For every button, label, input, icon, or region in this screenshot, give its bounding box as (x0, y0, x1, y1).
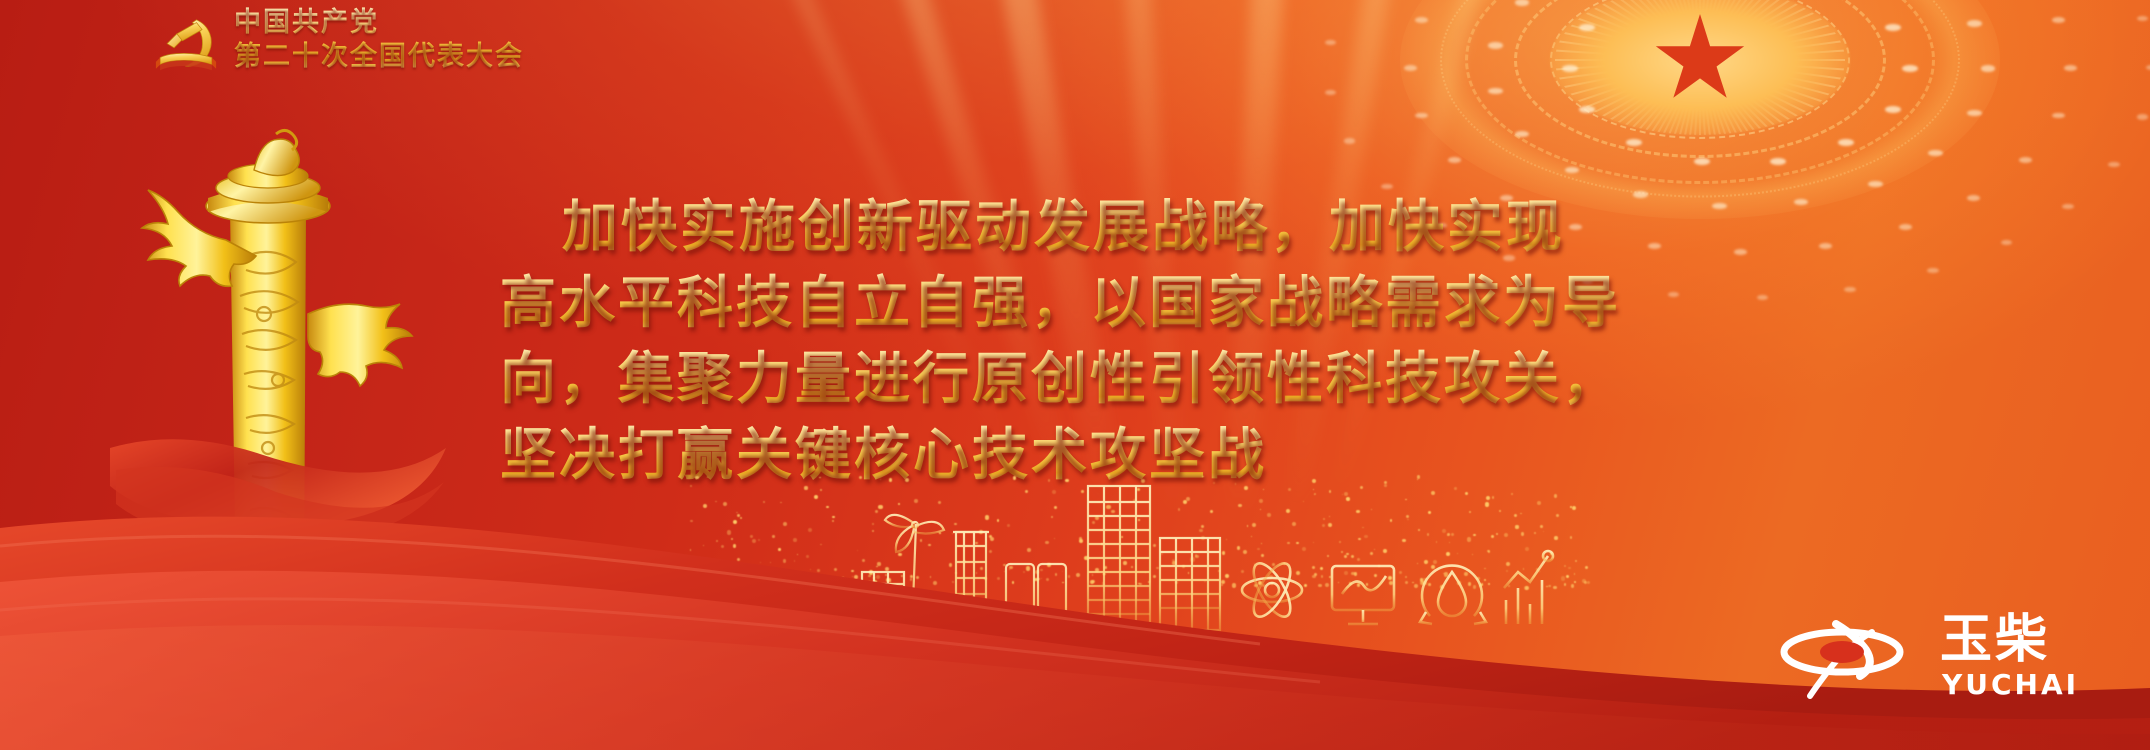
congress-mark: 中国共产党 第二十次全国代表大会 (148, 8, 608, 84)
yuchai-swoosh-icon (1780, 618, 1930, 700)
yuchai-logo: 玉柴 YUCHAI (1780, 614, 2110, 710)
skyline-group (860, 472, 1560, 632)
slogan-line-2: 高水平科技自立自强，以国家战略需求为导 (500, 266, 1730, 342)
hammer-and-sickle-icon (148, 10, 224, 80)
slogan-line-1: 加快实施创新驱动发展战略，加快实现 (500, 190, 1730, 266)
slogan-block: 加快实施创新驱动发展战略，加快实现 高水平科技自立自强，以国家战略需求为导 向，… (500, 190, 1730, 494)
yuchai-name-en: YUCHAI (1942, 670, 2079, 700)
highrise-icon (1160, 538, 1220, 630)
pagoda-tower-icon (953, 532, 989, 630)
rosette-spokes (1555, 0, 1845, 135)
slogan-line-3: 向，集聚力量进行原创性引领性科技攻关， (500, 342, 1730, 418)
eco-recycle-icon (1420, 566, 1486, 624)
congress-title-line1: 中国共产党 (234, 6, 524, 40)
skyscraper-icon (1088, 486, 1150, 630)
congress-title-line2: 第二十次全国代表大会 (234, 40, 524, 74)
storage-tank-icon (1006, 564, 1066, 630)
red-star-icon (1654, 14, 1746, 106)
congress-title: 中国共产党 第二十次全国代表大会 (234, 6, 524, 74)
atom-icon (1242, 558, 1302, 622)
monitor-icon (1332, 566, 1394, 624)
office-block-icon (862, 572, 904, 630)
yuchai-name-cn: 玉柴 (1940, 612, 2050, 668)
congress-banner: 中国共产党 第二十次全国代表大会 (0, 0, 2150, 750)
huabiao-column-icon (108, 118, 448, 588)
growth-chart-icon (1504, 551, 1553, 624)
